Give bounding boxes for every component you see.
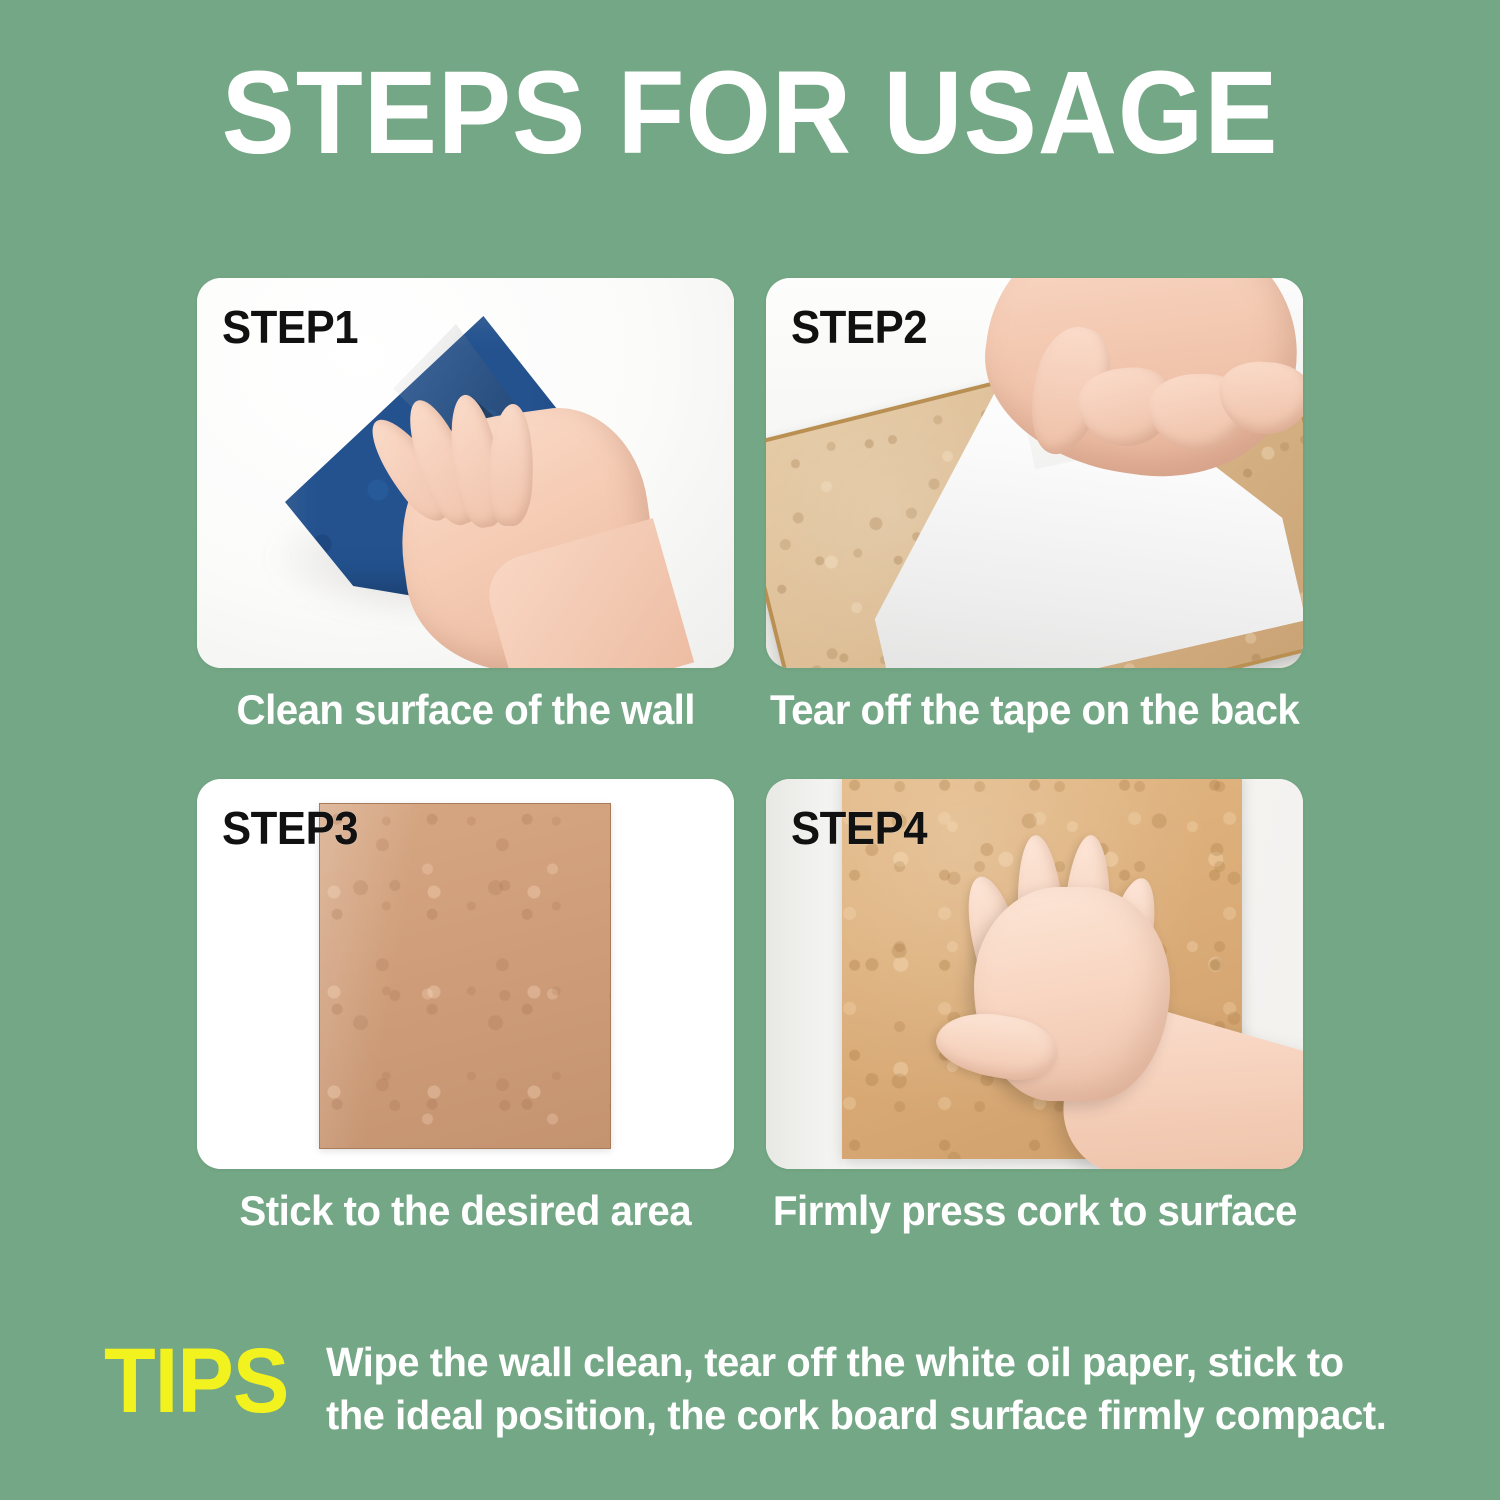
step-cell-4: STEP4 Firmly press cork to surface <box>766 779 1303 1235</box>
step-cell-2: STEP2 Tear off the tape on the back <box>766 278 1303 734</box>
cork-texture <box>320 804 610 1148</box>
tips-section: TIPS Wipe the wall clean, tear off the w… <box>104 1336 1424 1443</box>
step-label-2: STEP2 <box>791 300 927 354</box>
step-cell-1: STEP1 Clean surface of the wall <box>197 278 734 734</box>
step-caption-3: Stick to the desired area <box>240 1187 692 1235</box>
step-card-2: STEP2 <box>766 278 1303 668</box>
step-caption-4: Firmly press cork to surface <box>773 1187 1297 1235</box>
step-label-1: STEP1 <box>222 300 358 354</box>
step-cell-3: STEP3 Stick to the desired area <box>197 779 734 1235</box>
tips-heading: TIPS <box>104 1338 288 1425</box>
step-label-4: STEP4 <box>791 801 927 855</box>
page-title: STEPS FOR USAGE <box>53 52 1448 176</box>
steps-grid: STEP1 Clean surface of the wall <box>197 278 1303 1235</box>
step-card-3: STEP3 <box>197 779 734 1169</box>
infographic-page: STEPS FOR USAGE <box>0 0 1500 1500</box>
step-card-1: STEP1 <box>197 278 734 668</box>
cork-board-tile-icon <box>319 803 611 1149</box>
step-caption-1: Clean surface of the wall <box>236 686 694 734</box>
tips-body-text: Wipe the wall clean, tear off the white … <box>326 1336 1391 1443</box>
step-label-3: STEP3 <box>222 801 358 855</box>
step-card-4: STEP4 <box>766 779 1303 1169</box>
step-caption-2: Tear off the tape on the back <box>770 686 1299 734</box>
